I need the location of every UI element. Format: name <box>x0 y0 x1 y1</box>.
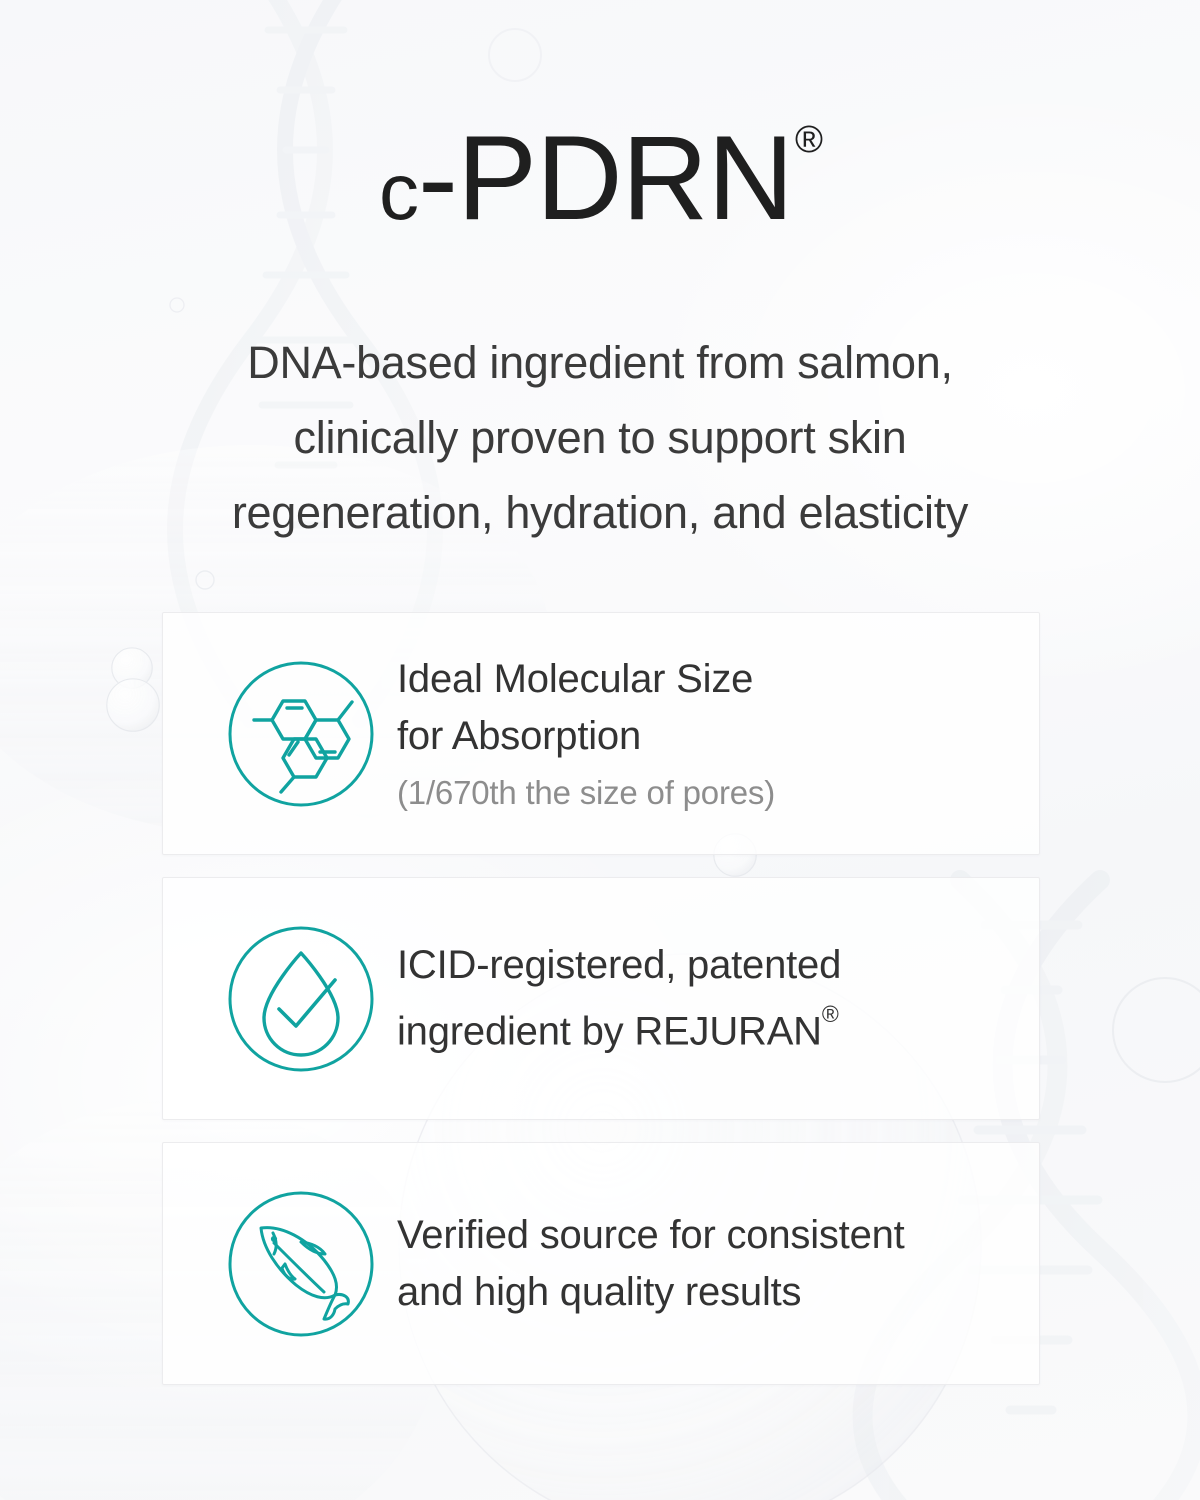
card-title-line-2: for Absorption <box>397 708 1009 765</box>
card-title: Verified source for consistent and high … <box>397 1207 1009 1321</box>
subtitle-line-3: regeneration, hydration, and elasticity <box>120 475 1080 550</box>
title-block: c-PDRN® <box>0 118 1200 238</box>
card-text-wrap: Ideal Molecular Size for Absorption (1/6… <box>397 651 1039 817</box>
fish-icon <box>225 1188 377 1340</box>
card-icon-wrap <box>221 658 381 810</box>
feature-card-molecular-size: Ideal Molecular Size for Absorption (1/6… <box>162 612 1040 855</box>
brand-main: PDRN <box>457 111 793 245</box>
card-title: ICID-registered, patented ingredient by … <box>397 937 1009 1060</box>
registered-trademark-icon: ® <box>822 1001 839 1027</box>
molecule-icon <box>225 658 377 810</box>
card-icon-wrap <box>221 1188 381 1340</box>
card-title-line-1: Ideal Molecular Size <box>397 651 1009 708</box>
brand-lead-letter: c <box>379 147 418 236</box>
feature-card-icid-registered: ICID-registered, patented ingredient by … <box>162 877 1040 1120</box>
card-title-line-2-text: ingredient by REJURAN <box>397 1009 822 1053</box>
feature-card-verified-source: Verified source for consistent and high … <box>162 1142 1040 1385</box>
page-title: c-PDRN® <box>379 118 821 238</box>
water-drop-check-icon <box>225 923 377 1075</box>
card-icon-wrap <box>221 923 381 1075</box>
card-title: Ideal Molecular Size for Absorption <box>397 651 1009 765</box>
subtitle-line-1: DNA-based ingredient from salmon, <box>120 325 1080 400</box>
card-text-wrap: ICID-registered, patented ingredient by … <box>397 937 1039 1060</box>
card-title-line-1: ICID-registered, patented <box>397 937 1009 994</box>
infographic-page: c-PDRN® DNA-based ingredient from salmon… <box>0 0 1200 1500</box>
subtitle-line-2: clinically proven to support skin <box>120 400 1080 475</box>
card-subtext: (1/670th the size of pores) <box>397 769 1009 817</box>
card-title-line-1: Verified source for consistent <box>397 1207 1009 1264</box>
card-text-wrap: Verified source for consistent and high … <box>397 1207 1039 1321</box>
subtitle: DNA-based ingredient from salmon, clinic… <box>120 325 1080 550</box>
registered-trademark-icon: ® <box>795 119 823 161</box>
feature-card-list: Ideal Molecular Size for Absorption (1/6… <box>162 612 1040 1385</box>
brand-hyphen: - <box>418 111 457 245</box>
card-title-line-2: ingredient by REJURAN® <box>397 994 1009 1060</box>
card-title-line-2: and high quality results <box>397 1264 1009 1321</box>
